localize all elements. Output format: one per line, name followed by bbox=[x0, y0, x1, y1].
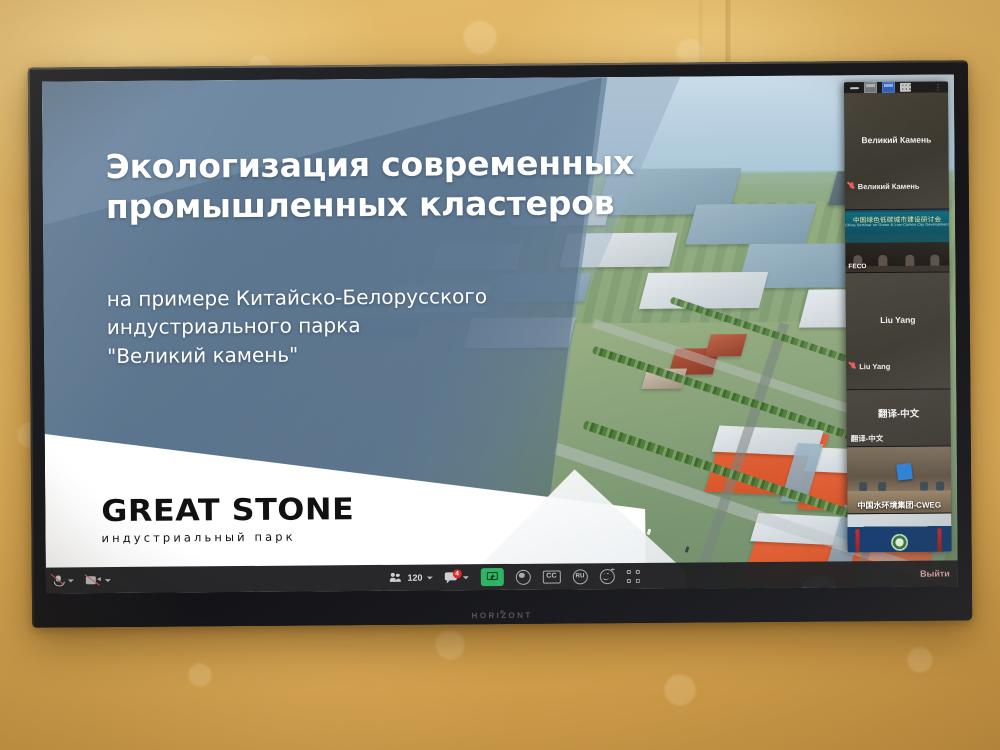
mic-muted-icon bbox=[849, 182, 855, 191]
leave-meeting-button[interactable]: Выйти bbox=[912, 568, 958, 578]
interpreter-name: 翻译-中文 bbox=[846, 405, 950, 420]
liu-yang-name: Liu Yang bbox=[846, 314, 950, 325]
reactions-button[interactable]: + bbox=[593, 563, 620, 589]
chat-unread-badge: 4 bbox=[452, 569, 461, 578]
closed-captions-button[interactable]: CC bbox=[536, 563, 566, 589]
apps-icon bbox=[626, 569, 639, 582]
start-video-button[interactable] bbox=[80, 567, 117, 593]
microphone-muted-icon bbox=[52, 574, 64, 587]
liu-yang-footer: Liu Yang bbox=[850, 362, 890, 371]
participant-tile-feco[interactable]: 中国绿色低碳城市建设研讨会 China Seminar on Green & L… bbox=[845, 209, 949, 273]
share-screen-button[interactable] bbox=[480, 568, 503, 586]
slide-title-line-1: Экологизация современных bbox=[105, 142, 705, 187]
shared-slide: Экологизация современных промышленных кл… bbox=[42, 74, 958, 593]
mic-muted-icon bbox=[850, 362, 856, 371]
slide-subtitle: на примере Китайско-Белорусского индустр… bbox=[107, 281, 628, 370]
mute-button[interactable] bbox=[46, 567, 80, 593]
record-button[interactable] bbox=[509, 564, 536, 590]
tv-indicator-led bbox=[500, 610, 504, 614]
share-screen-icon bbox=[486, 572, 497, 582]
interpretation-button[interactable]: RU bbox=[566, 563, 593, 589]
chevron-up-icon[interactable] bbox=[463, 576, 469, 579]
interpreter-footer: 翻译-中文 bbox=[851, 433, 884, 444]
participant-tile-liu-yang[interactable]: Liu Yang Liu Yang bbox=[845, 272, 950, 390]
room-scene: HORIZONT bbox=[0, 0, 1000, 750]
slide-subtitle-line-2: индустриального парка bbox=[107, 309, 627, 341]
toolbar-spacer-right bbox=[646, 574, 913, 576]
liu-yang-footer-name: Liu Yang bbox=[859, 362, 890, 371]
camera-off-icon bbox=[86, 575, 101, 586]
participant-label-feco: FECO bbox=[848, 263, 866, 270]
participants-icon bbox=[389, 572, 404, 584]
television: HORIZONT bbox=[28, 60, 972, 627]
active-speaker-name: Великий Камень bbox=[844, 134, 948, 145]
chevron-up-icon[interactable] bbox=[427, 576, 433, 579]
participant-tile-interpreter[interactable]: 翻译-中文 翻译-中文 bbox=[846, 389, 950, 447]
logo-wordmark: GREAT STONE bbox=[101, 492, 354, 529]
active-speaker-footer-name: Великий Камень bbox=[858, 182, 920, 191]
speaker-view-icon[interactable] bbox=[864, 82, 877, 93]
slide-subtitle-line-1: на примере Китайско-Белорусского bbox=[107, 281, 627, 313]
side-by-side-view-icon[interactable] bbox=[882, 82, 895, 93]
gallery-view-icon[interactable] bbox=[900, 83, 911, 92]
toolbar-spacer-left bbox=[117, 578, 384, 580]
conference-banner-en: China Seminar on Green & Low-Carbon City… bbox=[845, 222, 949, 227]
slide-title: Экологизация современных промышленных кл… bbox=[105, 142, 706, 227]
record-icon bbox=[515, 569, 530, 584]
participant-label-cweg: 中国水环境集团-CWEG bbox=[847, 499, 951, 511]
slide-title-line-2: промышленных кластеров bbox=[106, 183, 706, 228]
chevron-up-icon[interactable] bbox=[105, 579, 111, 582]
slide-subtitle-line-3: "Великий камень" bbox=[107, 338, 627, 370]
more-options-icon[interactable]: ⋮ bbox=[934, 83, 942, 92]
active-speaker-footer: Великий Камень bbox=[849, 182, 920, 192]
great-stone-logo: GREAT STONE индустриальный парк bbox=[101, 492, 340, 545]
participant-tile-cweg[interactable]: 中国水环境集团-CWEG bbox=[847, 446, 952, 514]
conference-banner: 中国绿色低碳城市建设研讨会 China Seminar on Green & L… bbox=[845, 211, 949, 234]
tv-screen: Экологизация современных промышленных кл… bbox=[42, 74, 958, 593]
chat-icon: 4 bbox=[444, 571, 458, 583]
active-speaker-tile[interactable]: Великий Камень Великий Камень bbox=[844, 92, 949, 210]
chevron-up-icon[interactable] bbox=[68, 579, 74, 582]
participants-button[interactable]: 120 bbox=[383, 564, 438, 590]
reactions-icon: + bbox=[599, 569, 614, 584]
qinghai-video-frame: 青海外事 bbox=[847, 513, 951, 552]
view-layout-controls[interactable]: ⋮ bbox=[844, 81, 948, 93]
logo-tagline: индустриальный парк bbox=[101, 529, 340, 545]
participants-count: 120 bbox=[407, 573, 422, 583]
minimize-icon[interactable] bbox=[850, 87, 859, 89]
closed-captions-icon: CC bbox=[542, 570, 560, 583]
participant-filmstrip[interactable]: ⋮ Великий Камень Великий Камень 中国绿色低碳城市… bbox=[844, 81, 952, 552]
interpretation-icon: RU bbox=[572, 569, 587, 584]
chat-button[interactable]: 4 bbox=[438, 564, 474, 590]
apps-button[interactable] bbox=[620, 563, 645, 589]
participant-tile-qinghai[interactable]: 青海外事 bbox=[847, 513, 951, 552]
interpreter-label: 翻译-中文 bbox=[851, 433, 884, 444]
